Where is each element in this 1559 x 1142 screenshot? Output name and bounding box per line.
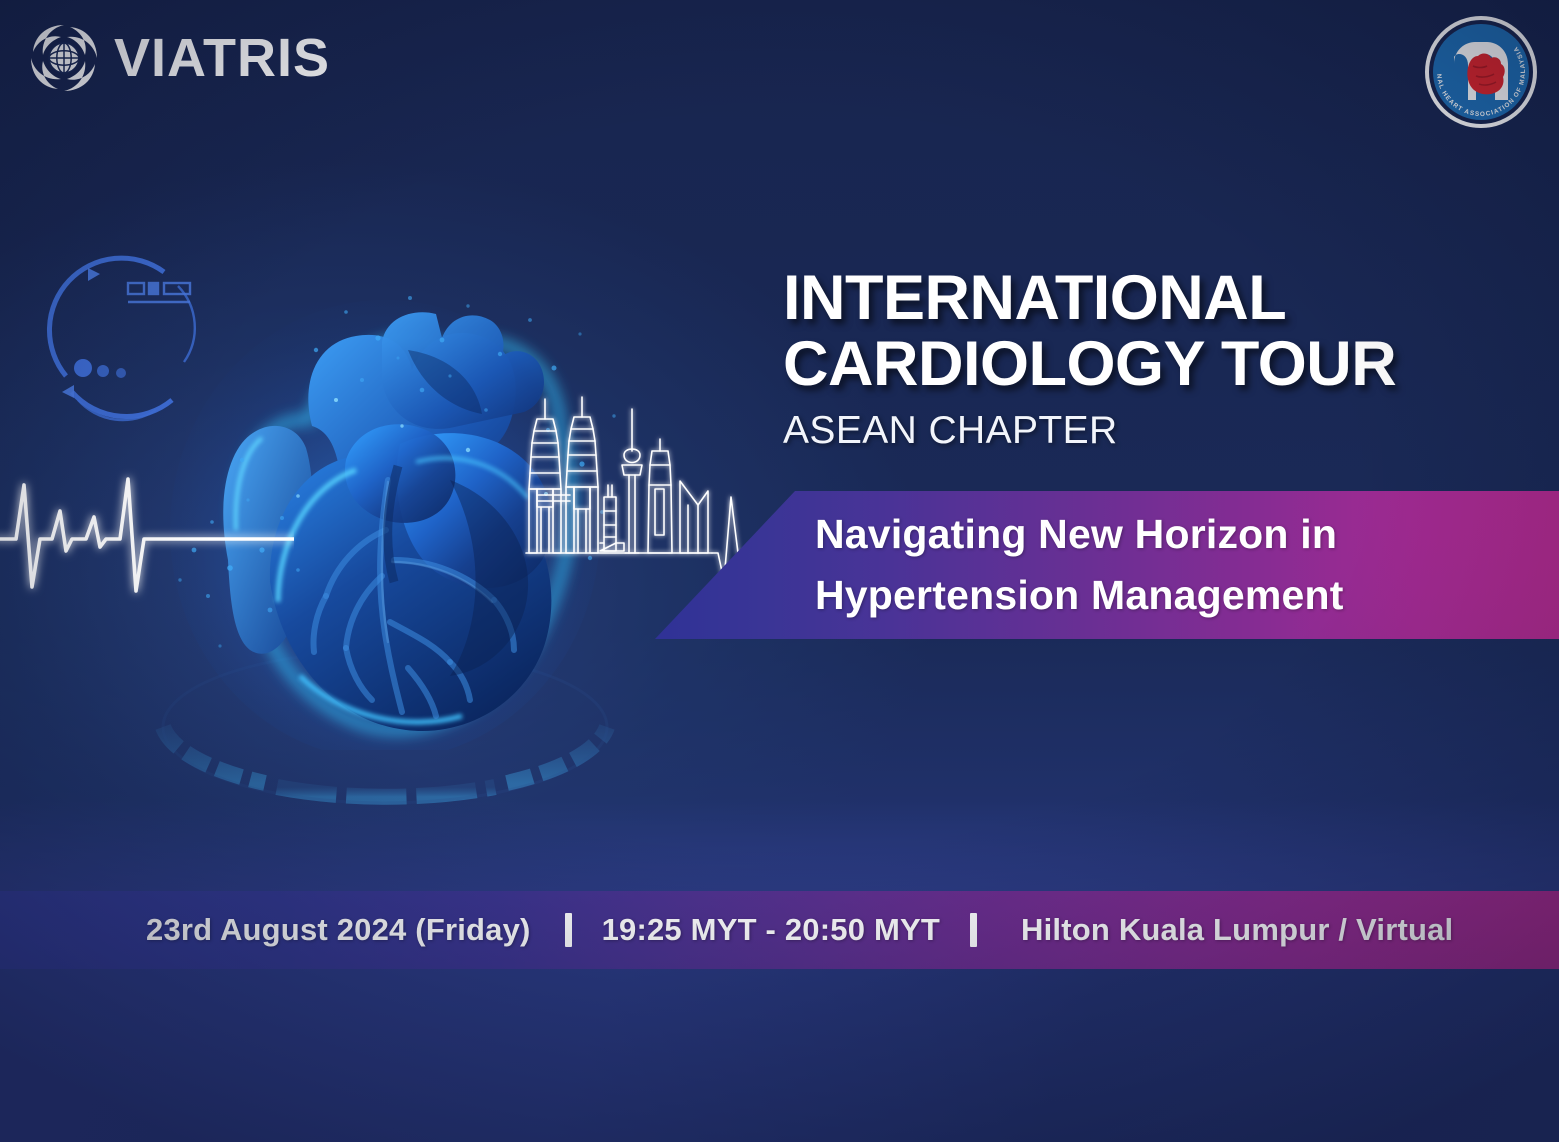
title-line-2: CARDIOLOGY TOUR	[783, 332, 1543, 398]
event-time: 19:25 MYT - 20:50 MYT	[602, 912, 940, 948]
separator-icon	[565, 913, 572, 947]
event-details-bar: 23rd August 2024 (Friday) 19:25 MYT - 20…	[0, 891, 1559, 969]
globe-swirl-icon	[28, 22, 100, 94]
title-block: INTERNATIONAL CARDIOLOGY TOUR ASEAN CHAP…	[783, 266, 1543, 453]
viatris-wordmark: VIATRIS	[114, 31, 330, 85]
event-details-inner: 23rd August 2024 (Friday) 19:25 MYT - 20…	[0, 912, 1453, 948]
event-date: 23rd August 2024 (Friday)	[146, 912, 531, 948]
kuala-lumpur-skyline-line-art	[512, 385, 772, 580]
title-line-1: INTERNATIONAL	[783, 266, 1543, 332]
theme-banner: Navigating New Horizon in Hypertension M…	[655, 491, 1559, 639]
ecg-pulse-line	[0, 455, 294, 605]
viatris-logo: VIATRIS	[28, 22, 330, 94]
background-diagonal-panel	[0, 960, 1559, 1142]
chapter-subtitle: ASEAN CHAPTER	[783, 409, 1543, 453]
theme-line-1: Navigating New Horizon in	[815, 504, 1559, 565]
separator-icon	[970, 913, 977, 947]
circular-ecg-monitor-hud	[38, 250, 218, 430]
event-banner: VIATRIS NATIONAL HEART ASSOCIATION OF MA…	[0, 0, 1559, 1142]
nham-logo: NATIONAL HEART ASSOCIATION OF MALAYSIA	[1421, 12, 1541, 132]
event-venue: Hilton Kuala Lumpur / Virtual	[1021, 912, 1453, 948]
theme-line-2: Hypertension Management	[815, 565, 1559, 626]
